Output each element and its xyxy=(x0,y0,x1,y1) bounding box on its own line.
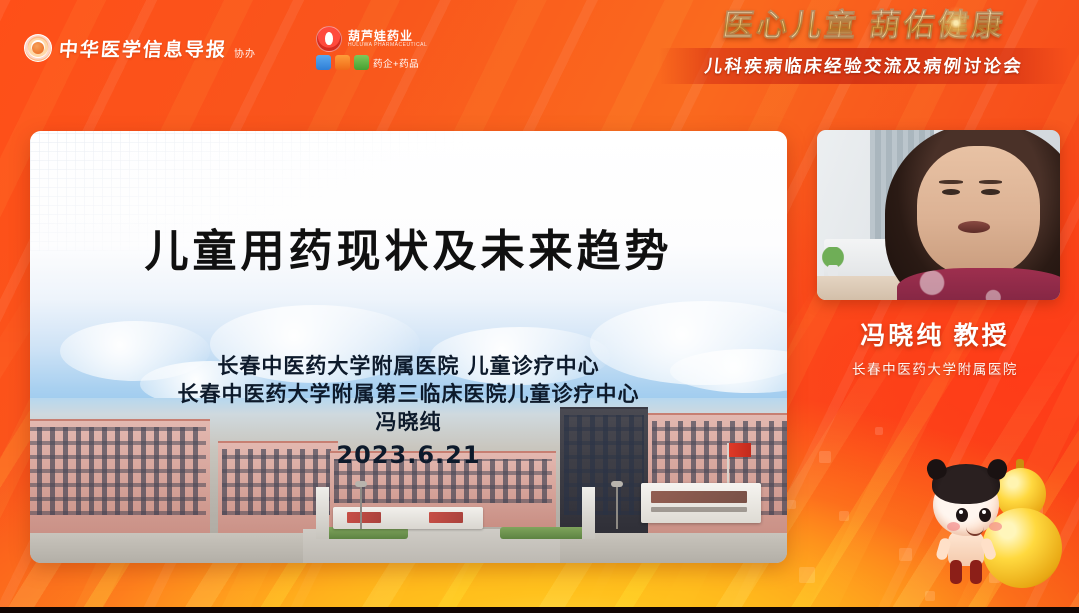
person-eye-right xyxy=(981,189,1000,195)
event-banner-subtitle: 儿科疾病临床经验交流及病例讨论会 xyxy=(668,53,1061,78)
broadcast-stage: 中华医学信息导报 协办 葫芦娃药业 HULUWA PHARMACEUTICAL … xyxy=(0,0,1079,613)
campus-stone-sign xyxy=(333,507,483,529)
logo-huluwa-label: 葫芦娃药业 HULUWA PHARMACEUTICAL xyxy=(348,30,427,48)
sign-text-left xyxy=(347,512,381,523)
slide-date: 2023.6.21 xyxy=(30,439,787,471)
mascot-cheek-right xyxy=(989,522,1002,531)
speaker-organization: 长春中医药大学附属医院 xyxy=(790,358,1079,378)
bottom-letterbox xyxy=(0,607,1079,613)
logo-huluwa-bottom: 药企+药品 xyxy=(316,55,427,70)
calabash-boy-icon xyxy=(918,440,1068,600)
mascot-child xyxy=(924,464,1010,592)
campus-university-sign xyxy=(641,483,761,523)
chip-blue-icon xyxy=(316,55,331,70)
header-logo-row: 中华医学信息导报 协办 葫芦娃药业 HULUWA PHARMACEUTICAL … xyxy=(24,26,427,70)
person-brow-right xyxy=(979,180,1002,184)
logo-huluwa-sub: HULUWA PHARMACEUTICAL xyxy=(348,43,427,48)
university-sign-subtext xyxy=(651,507,747,512)
person-brow-left xyxy=(939,180,962,184)
event-banner: 医心儿童 葫佑健康 儿科疾病临床经验交流及病例讨论会 xyxy=(659,8,1069,84)
chip-green-icon xyxy=(354,55,369,70)
mascot-leg-right xyxy=(970,560,982,584)
slide-title: 儿童用药现状及未来趋势 xyxy=(30,215,787,279)
person-eye-left xyxy=(942,189,961,195)
video-speaker-person xyxy=(885,130,1060,300)
event-banner-bar: 儿科疾病临床经验交流及病例讨论会 xyxy=(659,48,1069,84)
slide-subtitle-line-1: 长春中医药大学附属医院 儿童诊疗中心 xyxy=(30,353,787,381)
event-banner-title: 医心儿童 葫佑健康 xyxy=(657,8,1071,44)
logo-cma-label: 中华医学信息导报 xyxy=(58,35,228,62)
logo-huluwa-top: 葫芦娃药业 HULUWA PHARMACEUTICAL xyxy=(316,26,427,52)
campus-lawn-right xyxy=(500,527,592,539)
mascot-leg-left xyxy=(950,560,962,584)
campus-lamp-post-2 xyxy=(616,485,618,529)
bokeh-square xyxy=(899,548,912,561)
speaker-video-feed[interactable] xyxy=(817,130,1060,300)
video-plant xyxy=(822,247,844,276)
bokeh-square xyxy=(787,500,796,509)
speaker-name: 冯晓纯 教授 xyxy=(790,316,1079,352)
presentation-slide[interactable]: 儿童用药现状及未来趋势 长春中医药大学附属医院 儿童诊疗中心 长春中医药大学附属… xyxy=(30,131,787,563)
person-face xyxy=(917,146,1041,275)
university-sign-text xyxy=(651,491,747,503)
bokeh-square xyxy=(839,511,849,521)
mascot-eye-left xyxy=(956,508,968,522)
campus-gate-post-right xyxy=(582,487,595,539)
cma-seal-icon xyxy=(24,34,52,62)
bokeh-square xyxy=(819,451,831,463)
slide-subtitle-line-2: 长春中医药大学附属第三临床医院儿童诊疗中心 xyxy=(30,381,787,409)
logo-huluwa-pharma: 葫芦娃药业 HULUWA PHARMACEUTICAL 药企+药品 xyxy=(316,26,427,70)
bokeh-square xyxy=(799,567,815,583)
speaker-caption: 冯晓纯 教授 长春中医药大学附属医院 xyxy=(790,316,1079,378)
sign-text-right xyxy=(429,512,463,523)
logo-cma-suffix: 协办 xyxy=(234,45,256,62)
person-mouth xyxy=(958,221,990,233)
bokeh-square xyxy=(875,427,883,435)
campus-lamp-post xyxy=(360,485,362,529)
logo-huluwa-tagline: 药企+药品 xyxy=(373,56,419,70)
mascot-cheek-left xyxy=(947,522,960,531)
logo-huluwa-name: 葫芦娃药业 xyxy=(348,29,413,43)
gourd-badge-icon xyxy=(316,26,342,52)
person-floral-top xyxy=(897,268,1060,300)
campus-gate-post-left xyxy=(316,487,329,539)
logo-cma-journal: 中华医学信息导报 协办 xyxy=(24,34,256,62)
slide-subtitle-line-3: 冯晓纯 xyxy=(30,408,787,436)
chip-orange-icon xyxy=(335,55,350,70)
mascot-eye-right xyxy=(979,508,991,522)
slide-subtitle-block: 长春中医药大学附属医院 儿童诊疗中心 长春中医药大学附属第三临床医院儿童诊疗中心… xyxy=(30,353,787,471)
